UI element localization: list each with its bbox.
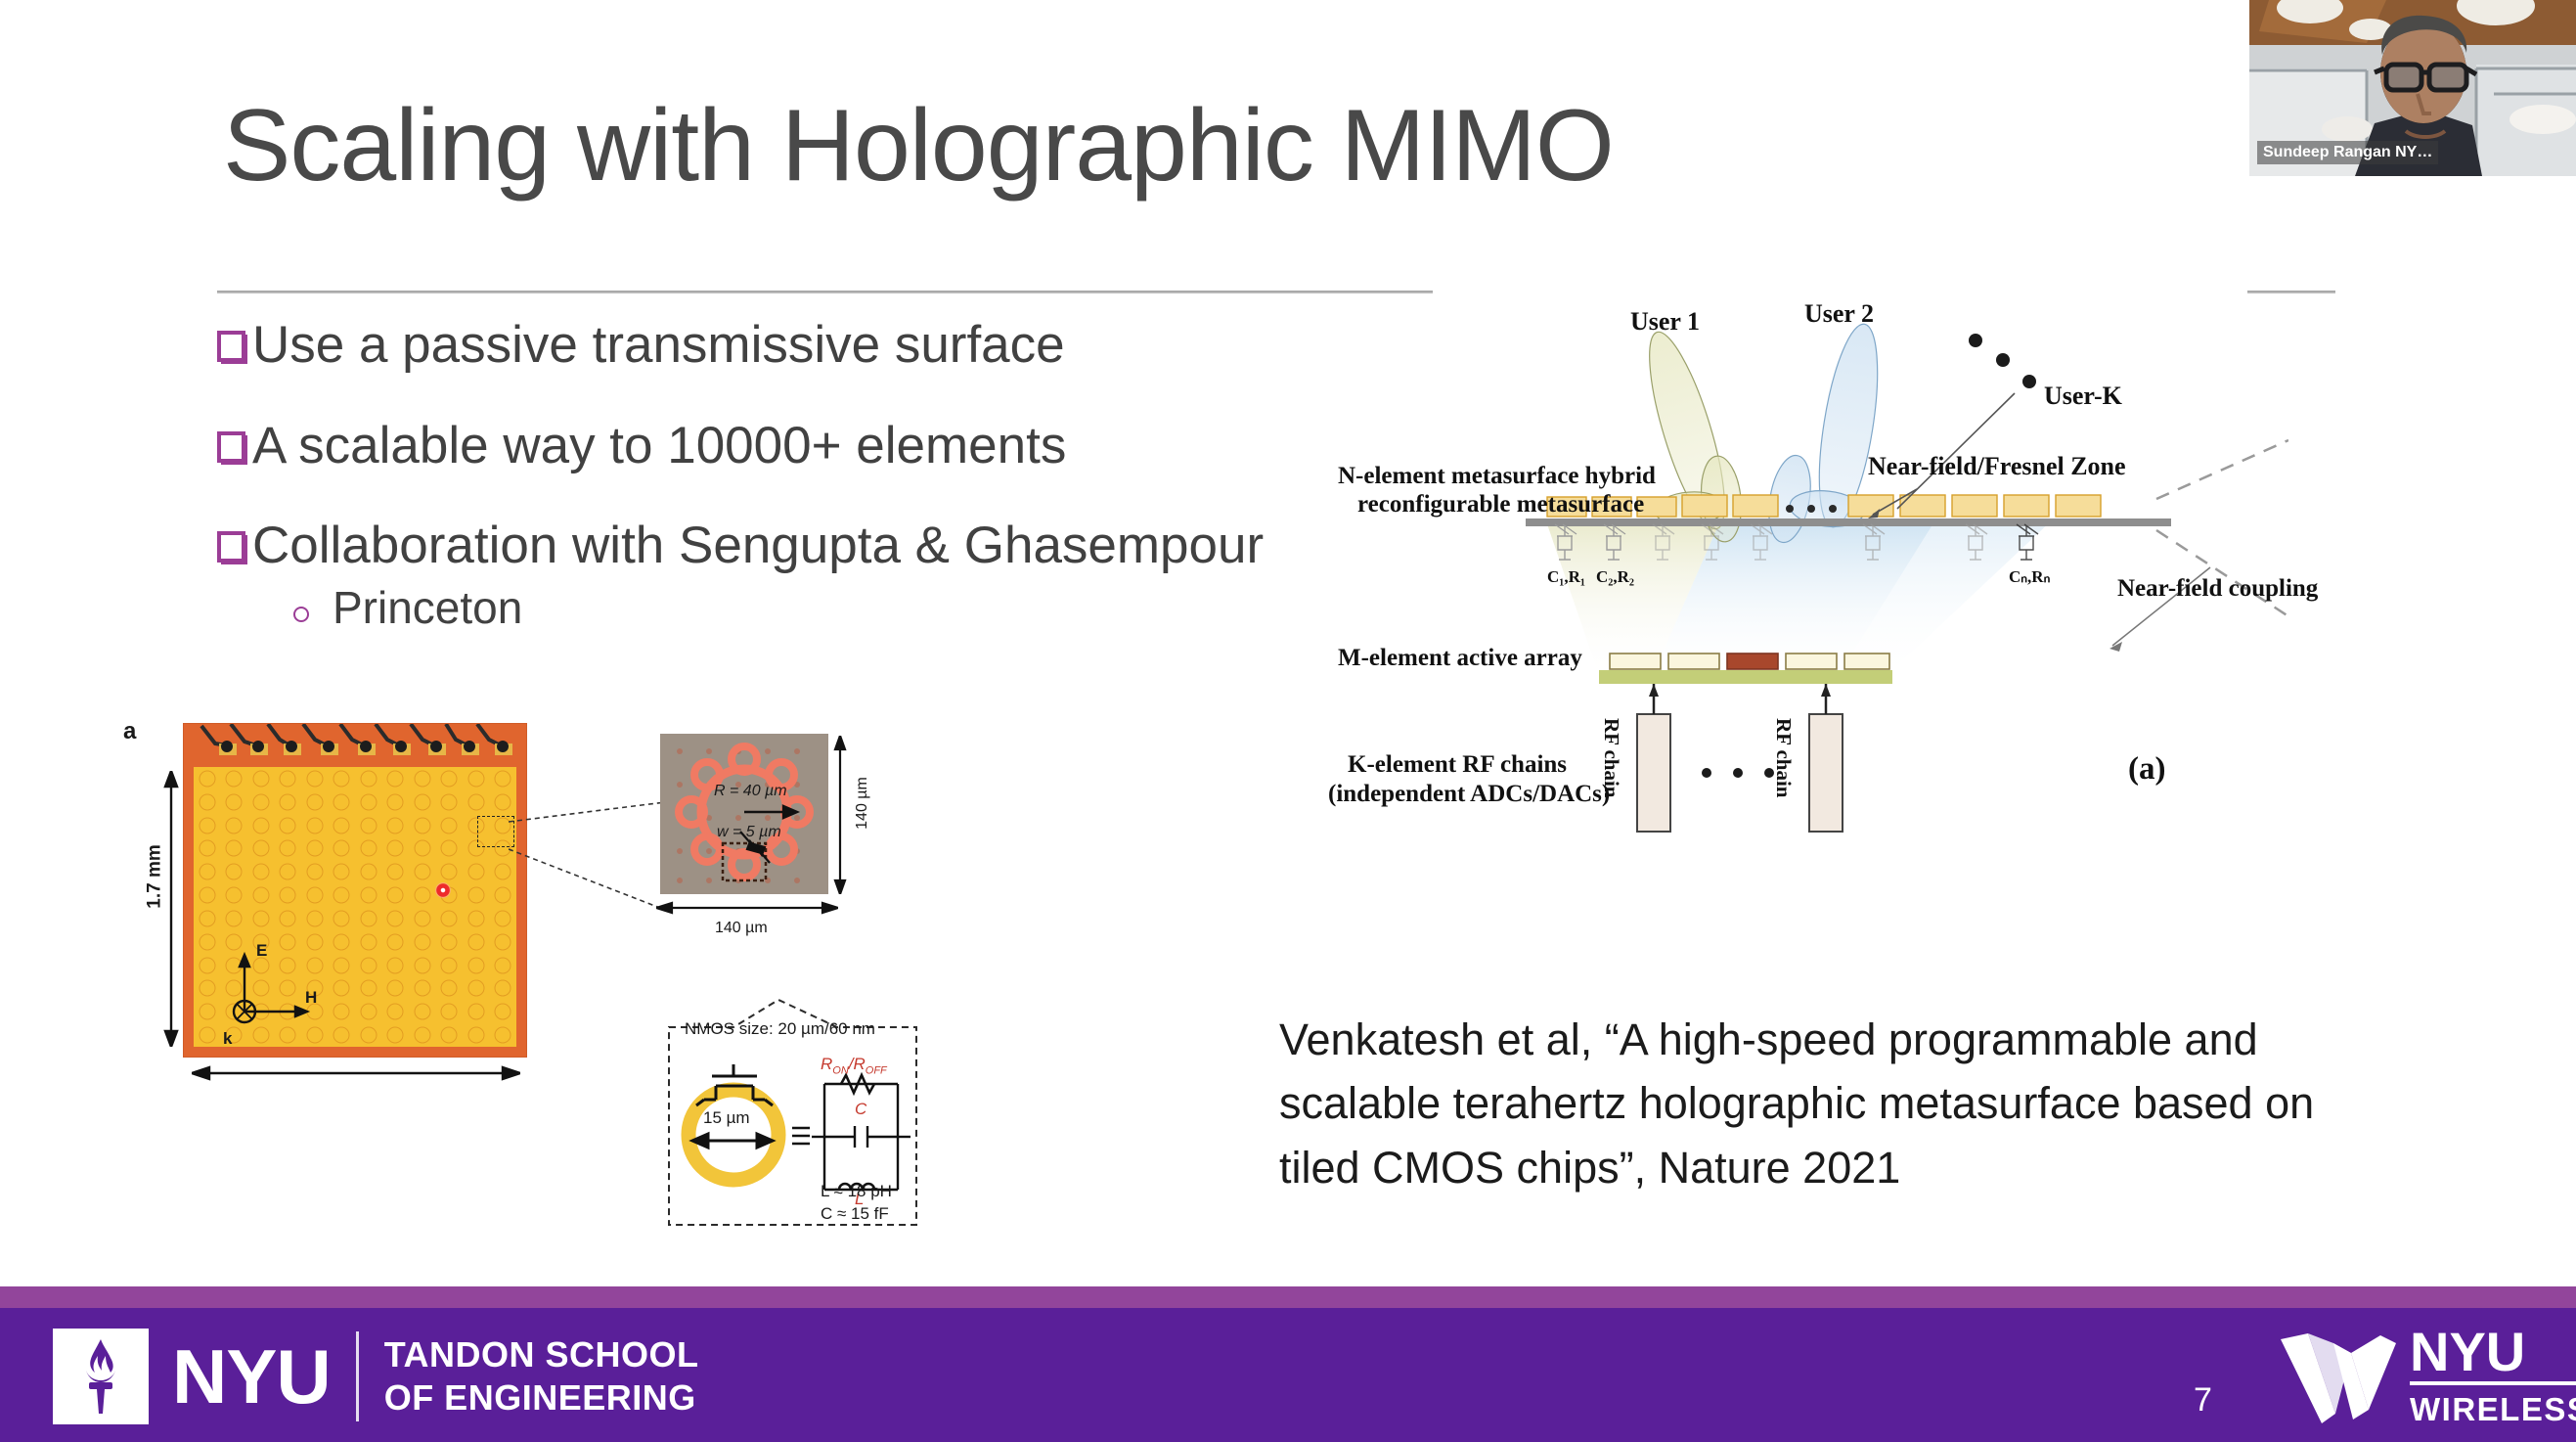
- diagram-caption: (a): [2128, 751, 2165, 789]
- label-inset-size-horizontal: 140 µm: [715, 920, 768, 937]
- bullet-label: Collaboration with Sengupta & Ghasempour: [252, 516, 1264, 577]
- label-c2r2: C₂,R₂: [1596, 567, 1634, 587]
- ring-resonator-icon: [660, 734, 828, 894]
- label-ring-radius: R = 40 µm: [714, 783, 787, 800]
- tandon-line-2: OF ENGINEERING: [384, 1376, 699, 1419]
- bullet-label: A scalable way to 10000+ elements: [252, 416, 1066, 477]
- square-bullet-icon: [217, 331, 247, 364]
- label-metasurface-line1: N-element metasurface hybrid: [1338, 463, 1656, 491]
- sub-bullet-label: Princeton: [333, 581, 522, 634]
- circle-bullet-icon: [293, 607, 309, 622]
- label-near-field-zone: Near-field/Fresnel Zone: [1868, 452, 2126, 481]
- width-dimension-arrow: [192, 1064, 520, 1082]
- label-user-1: User 1: [1630, 307, 1700, 337]
- label-rf-chains-line1: K-element RF chains: [1348, 751, 1567, 780]
- label-axis-h: H: [305, 988, 317, 1008]
- label-cnrn: Cₙ,Rₙ: [2009, 567, 2050, 587]
- label-axis-e: E: [256, 941, 267, 961]
- torch-glyph: [72, 1337, 129, 1416]
- nyu-wireless-logo: NYU WIRELESS: [2279, 1326, 2576, 1428]
- nyu-wireless-wordmark: NYU WIRELESS: [2410, 1326, 2576, 1428]
- video-participant-tile[interactable]: Sundeep Rangan NY…: [2249, 0, 2576, 176]
- list-item: Use a passive transmissive surface: [217, 315, 1371, 377]
- label-inset-size-vertical: 140 µm: [854, 777, 871, 830]
- label-capacitance-value: C ≈ 15 fF: [821, 1204, 889, 1224]
- laser-spot-marker: [435, 882, 451, 898]
- square-bullet-icon: [217, 531, 247, 564]
- bond-wires-icon: [184, 724, 526, 765]
- bullet-list: Use a passive transmissive surface A sca…: [217, 315, 1371, 634]
- label-capacitor-c: C: [855, 1100, 866, 1119]
- slide-canvas: Scaling with Holographic MIMO Use a pass…: [0, 0, 2576, 1442]
- bullet-label: Use a passive transmissive surface: [252, 315, 1065, 377]
- system-diagram: User 1 User 2 User-K Near-field/Fresnel …: [1428, 323, 2288, 910]
- label-c1r1: C₁,R₁: [1547, 567, 1585, 587]
- height-dimension-arrow: [161, 771, 181, 1047]
- ring-height-arrow: [832, 736, 848, 894]
- label-user-k: User-K: [2044, 382, 2122, 411]
- ring-resonator-inset: R = 40 µm w = 5 µm 140 µm 140 µm: [660, 734, 861, 915]
- tandon-school-text: TANDON SCHOOL OF ENGINEERING: [384, 1333, 699, 1419]
- chip-micrograph: E H k: [184, 724, 526, 1057]
- title-divider: [217, 291, 1433, 293]
- footer-accent-bar: [0, 1286, 2576, 1308]
- list-item: A scalable way to 10000+ elements: [217, 416, 1371, 477]
- label-user-2: User 2: [1804, 299, 1874, 329]
- page-number: 7: [2194, 1381, 2212, 1419]
- nyu-tandon-logo: NYU TANDON SCHOOL OF ENGINEERING: [53, 1329, 699, 1424]
- system-diagram-svg: [1428, 323, 2288, 910]
- nyu-wordmark: NYU: [172, 1338, 331, 1415]
- label-rf-chain-box-2: RF chain: [1772, 718, 1796, 797]
- label-active-array: M-element active array: [1338, 645, 1582, 673]
- unit-cell-circuit-inset: NMOS size: 20 µm/60 nm 15 µm RON/ROFF C …: [663, 998, 922, 1231]
- label-near-field-coupling: Near-field coupling: [2117, 575, 2318, 604]
- ring-width-arrow: [656, 900, 838, 916]
- participant-name-label: Sundeep Rangan NY…: [2257, 141, 2438, 164]
- chip-figure: a: [127, 724, 949, 1252]
- inset-leader-lines: [509, 802, 675, 1027]
- wireless-nyu-text: NYU: [2410, 1326, 2576, 1385]
- page-title: Scaling with Holographic MIMO: [223, 90, 1614, 202]
- label-ring-width: w = 5 µm: [717, 824, 781, 841]
- panel-letter-a: a: [123, 718, 136, 745]
- wireless-w-icon: [2279, 1329, 2400, 1425]
- ring-resonator-photo: [660, 734, 828, 894]
- label-rf-chain-box-1: RF chain: [1600, 718, 1623, 797]
- label-rf-chains-line2: (independent ADCs/DACs): [1328, 781, 1610, 809]
- label-nmos-size: NMOS size: 20 µm/60 nm: [685, 1019, 875, 1039]
- square-bullet-icon: [217, 431, 247, 465]
- label-chip-height: 1.7 mm: [145, 844, 166, 908]
- list-item: Collaboration with Sengupta & Ghasempour: [217, 516, 1371, 577]
- label-axis-k: k: [223, 1029, 232, 1049]
- title-divider-right: [2247, 291, 2335, 293]
- label-metasurface-line2: reconfigurable metasurface: [1357, 491, 1644, 519]
- label-ring-dimension: 15 µm: [703, 1108, 750, 1128]
- wireless-word-text: WIRELESS: [2410, 1391, 2576, 1428]
- sub-list-item: Princeton: [293, 581, 1371, 634]
- citation-text: Venkatesh et al, “A high-speed programma…: [1279, 1008, 2394, 1199]
- logo-divider: [356, 1331, 359, 1421]
- label-ron-roff: RON/ROFF: [821, 1055, 887, 1076]
- label-inductance-value: L ≈ 18 pH: [821, 1182, 892, 1201]
- tandon-line-1: TANDON SCHOOL: [384, 1333, 699, 1376]
- torch-icon: [53, 1329, 149, 1424]
